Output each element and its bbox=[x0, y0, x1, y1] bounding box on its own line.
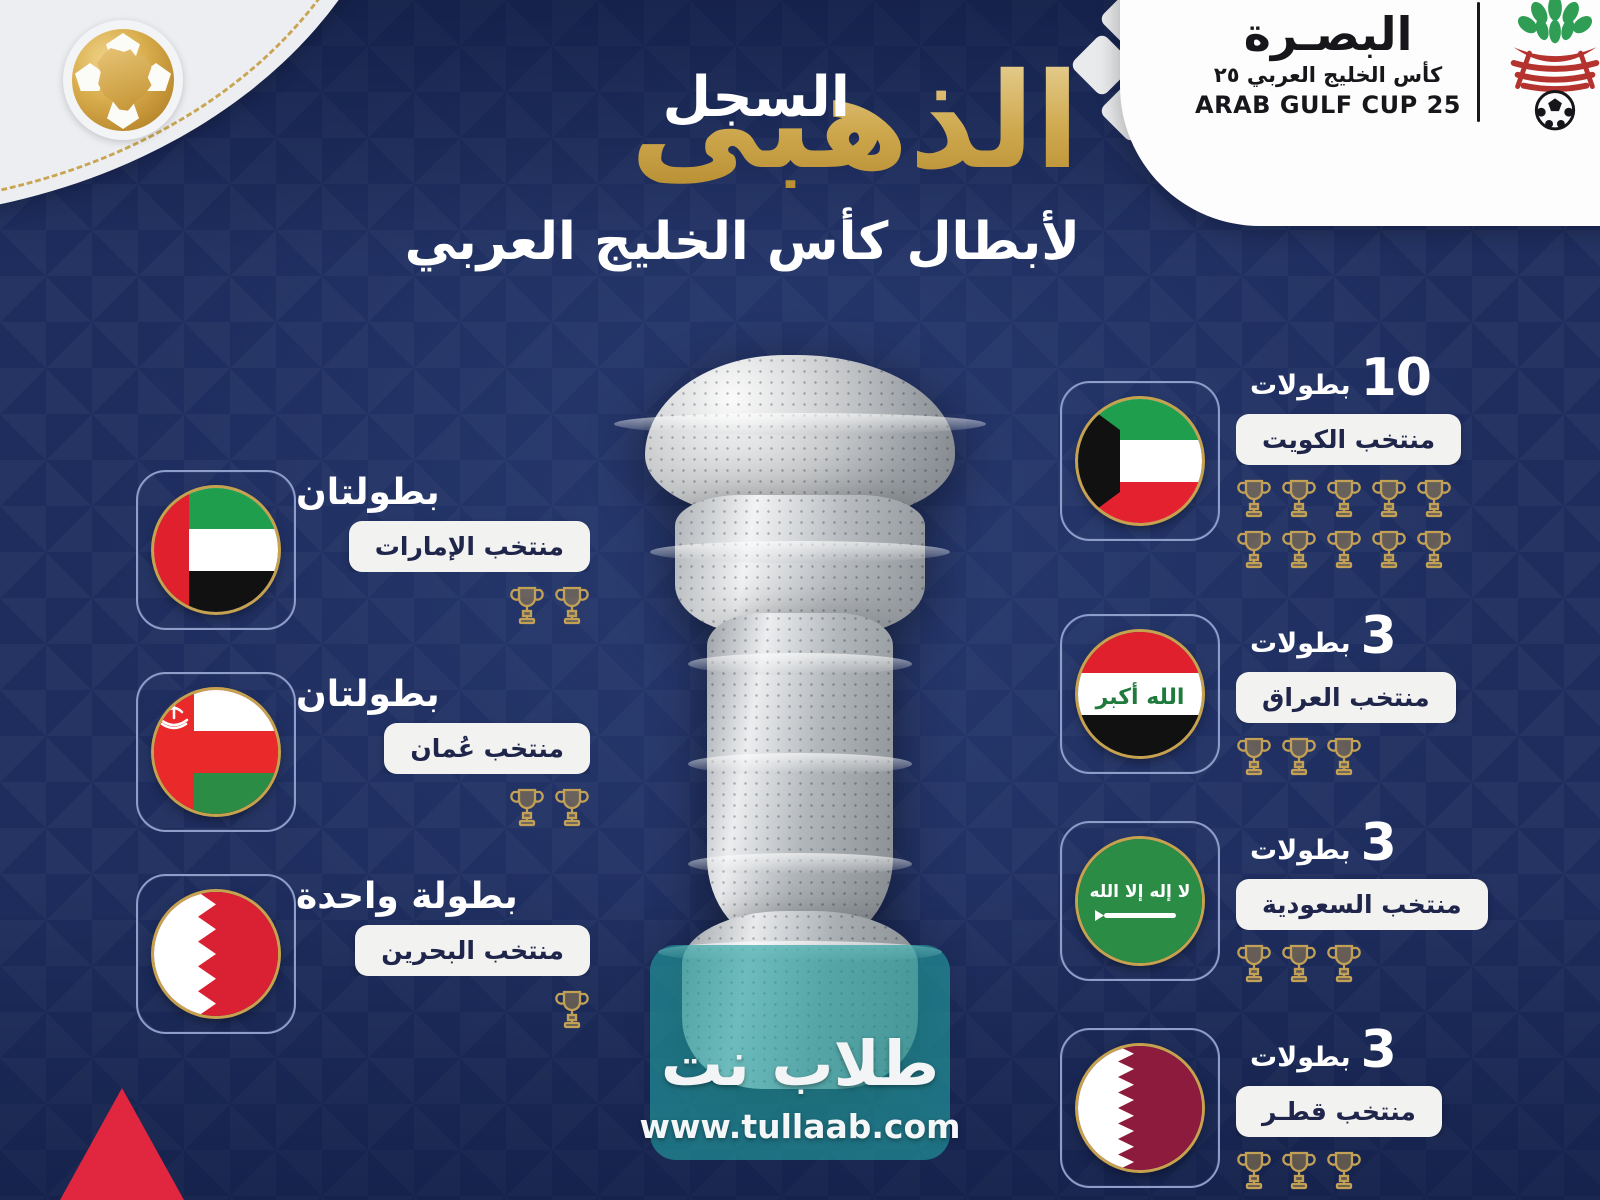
team-card: 3 بطولات منتخب العراق bbox=[1060, 610, 1540, 777]
gulf-football-globe-emblem bbox=[63, 20, 183, 140]
team-name-pill: منتخب العراق bbox=[1236, 672, 1456, 723]
team-card: بطولتان منتخب الإمارات bbox=[120, 470, 590, 630]
team-card: بطولتان منتخب عُمان bbox=[120, 672, 590, 832]
team-info: 3 بطولات منتخب العراق bbox=[1236, 610, 1540, 777]
team-info: 10 بطولات منتخب الكويت bbox=[1236, 352, 1540, 570]
watermark-arabic-text: طلاب نت bbox=[661, 1033, 939, 1095]
team-info: بطولة واحدة منتخب البحرين bbox=[296, 879, 590, 1030]
championship-count-number: 10 bbox=[1361, 352, 1431, 404]
logo-cup-name-en: ARAB GULF CUP 25 bbox=[1195, 93, 1461, 117]
svg-text:الله أكبر: الله أكبر bbox=[1095, 681, 1185, 710]
championship-count-word: بطولات bbox=[1250, 630, 1351, 662]
championship-count: بطولة واحدة bbox=[296, 879, 590, 915]
flag-oman-icon bbox=[136, 672, 296, 832]
championship-count: 3 بطولات bbox=[1236, 1024, 1540, 1076]
headline-white-word: السجل bbox=[662, 70, 850, 126]
logo-cup-name-ar: كأس الخليج العربي ٢٥ bbox=[1195, 65, 1461, 86]
team-info: بطولتان منتخب عُمان bbox=[296, 677, 590, 828]
championship-count-number: 3 bbox=[1361, 610, 1396, 662]
championship-count-word: بطولات bbox=[1250, 837, 1351, 869]
championship-count-word: بطولات bbox=[1250, 1044, 1351, 1076]
flag-saudi-icon: لا إله إلا الله bbox=[1060, 821, 1220, 981]
tournament-logo-panel: البصـرة كأس الخليج العربي ٢٥ ARAB GULF C… bbox=[1120, 0, 1600, 226]
teams-column-left: بطولتان منتخب الإمارات bbox=[120, 470, 590, 1076]
trophy-icons bbox=[1236, 1137, 1362, 1191]
flag-kuwait-icon bbox=[1060, 381, 1220, 541]
team-card: 3 بطولات منتخب السعودية bbox=[1060, 817, 1540, 984]
team-info: 3 بطولات منتخب قطـر bbox=[1236, 1024, 1540, 1191]
team-info: 3 بطولات منتخب السعودية bbox=[1236, 817, 1540, 984]
trophy-icons bbox=[509, 572, 590, 626]
logo-city-name: البصـرة bbox=[1195, 11, 1461, 57]
watermark-url: www.tullaab.com bbox=[639, 1107, 960, 1146]
championship-count: 3 بطولات bbox=[1236, 610, 1540, 662]
team-card: 3 بطولات منتخب قطـر bbox=[1060, 1024, 1540, 1191]
championship-count-number: 3 bbox=[1361, 817, 1396, 869]
championship-count: بطولتان bbox=[296, 475, 590, 511]
championship-count: بطولتان bbox=[296, 677, 590, 713]
football-icon bbox=[72, 29, 174, 131]
team-card: بطولة واحدة منتخب البحرين bbox=[120, 874, 590, 1034]
teams-column-right: 10 بطولات منتخب الكويت bbox=[1060, 352, 1540, 1200]
basra-palm-football-emblem bbox=[1496, 0, 1600, 132]
logo-divider bbox=[1477, 2, 1480, 122]
watermark-overlay: طلاب نت www.tullaab.com bbox=[650, 945, 950, 1160]
championship-count-word: بطولة واحدة bbox=[296, 879, 518, 915]
headline-subtitle: لأبطال كأس الخليج العربي bbox=[405, 212, 1080, 272]
championship-count-word: بطولتان bbox=[296, 677, 440, 713]
team-name-pill: منتخب السعودية bbox=[1236, 879, 1488, 930]
team-name-pill: منتخب الكويت bbox=[1236, 414, 1461, 465]
team-card: 10 بطولات منتخب الكويت bbox=[1060, 352, 1540, 570]
championship-count: 10 بطولات bbox=[1236, 352, 1540, 404]
team-name-pill: منتخب عُمان bbox=[384, 723, 590, 774]
flag-iraq-icon: الله أكبر bbox=[1060, 614, 1220, 774]
championship-count-word: بطولتان bbox=[296, 475, 440, 511]
team-info: بطولتان منتخب الإمارات bbox=[296, 475, 590, 626]
flag-qatar-icon bbox=[1060, 1028, 1220, 1188]
team-name-pill: منتخب البحرين bbox=[355, 925, 590, 976]
trophy-icons bbox=[509, 774, 590, 828]
flag-bahrain-icon bbox=[136, 874, 296, 1034]
flag-uae-icon bbox=[136, 470, 296, 630]
trophy-icons bbox=[1236, 930, 1362, 984]
championship-count-word: بطولات bbox=[1250, 372, 1351, 404]
team-name-pill: منتخب الإمارات bbox=[349, 521, 590, 572]
trophy-icons bbox=[554, 976, 590, 1030]
trophy-icons bbox=[1236, 723, 1362, 777]
trophy-icons bbox=[1236, 465, 1486, 570]
team-name-pill: منتخب قطـر bbox=[1236, 1086, 1442, 1137]
championship-count: 3 بطولات bbox=[1236, 817, 1540, 869]
championship-count-number: 3 bbox=[1361, 1024, 1396, 1076]
svg-text:لا إله إلا الله: لا إله إلا الله bbox=[1090, 882, 1191, 902]
arabian-peninsula-map-icon bbox=[92, 48, 154, 112]
infographic-poster: البصـرة كأس الخليج العربي ٢٥ ARAB GULF C… bbox=[0, 0, 1600, 1200]
bottom-left-red-triangle bbox=[60, 1088, 184, 1200]
poster-headline: الذهبي السجل لأبطال كأس الخليج العربي bbox=[320, 62, 1080, 212]
